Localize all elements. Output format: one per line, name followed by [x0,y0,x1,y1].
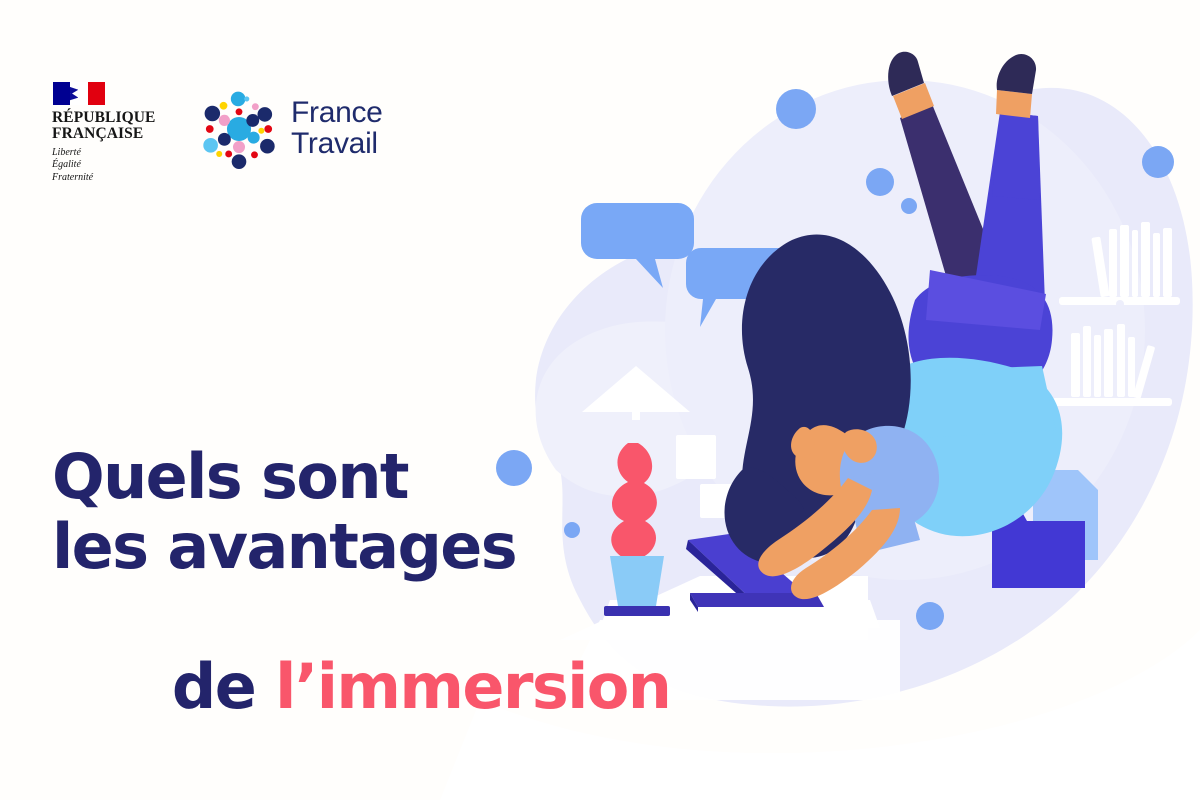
republique-francaise-label: RÉPUBLIQUE FRANÇAISE [52,110,156,142]
headline-line-4: professionnelle? [52,792,652,800]
flag-band-white [70,82,87,105]
france-travail-logo[interactable]: France Travail [196,86,383,172]
flag-band-blue [53,82,70,105]
logo-bar: RÉPUBLIQUE FRANÇAISE Liberté Égalité Fra… [52,82,383,184]
headline-line-2: les avantages [52,512,652,582]
page-title: Quels sont les avantages de l’immersion … [52,442,652,800]
headline-line-3: de l’immersion [52,582,652,792]
republique-francaise-motto: Liberté Égalité Fraternité [52,147,93,184]
flag-band-red [88,82,105,105]
france-travail-wordmark: France Travail [291,98,383,159]
french-flag-marianne-icon [53,82,105,105]
france-travail-dots-icon [196,86,282,172]
republique-francaise-logo: RÉPUBLIQUE FRANÇAISE Liberté Égalité Fra… [52,82,170,184]
headline-line-1: Quels sont [52,442,652,512]
headline-accent-1: l’immersion [275,650,670,723]
poster-canvas: RÉPUBLIQUE FRANÇAISE Liberté Égalité Fra… [0,0,1200,800]
headline-prefix: de [172,650,275,723]
